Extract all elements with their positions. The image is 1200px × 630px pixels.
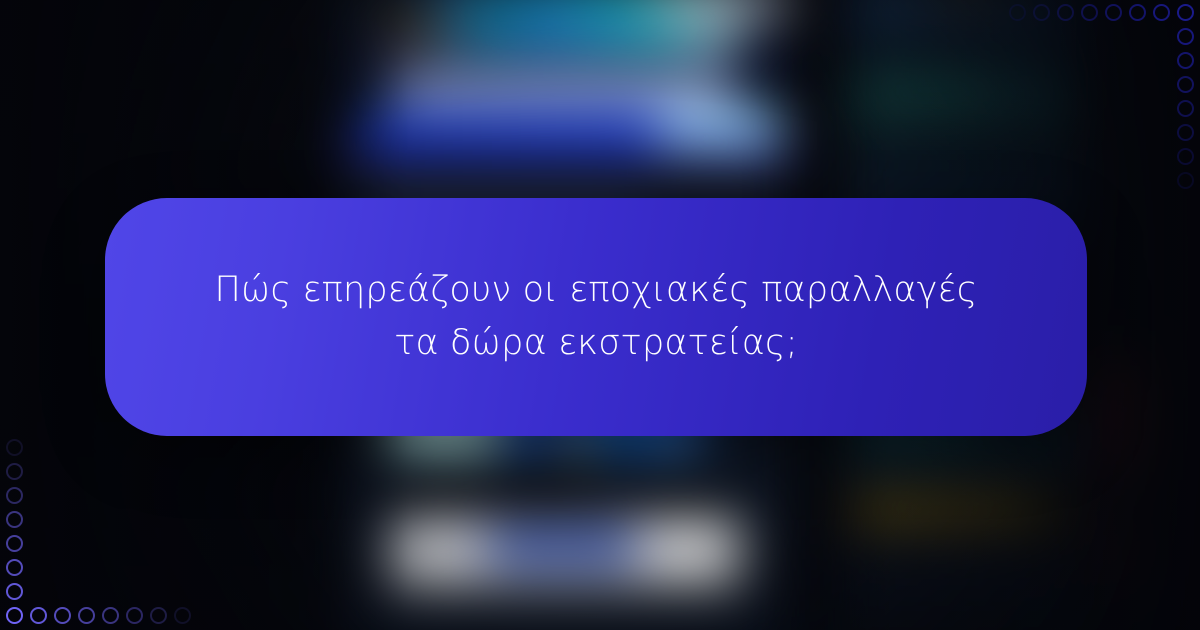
decor-dot xyxy=(174,607,191,624)
decor-dot xyxy=(6,535,23,552)
decor-dot xyxy=(1153,4,1170,21)
decor-dot xyxy=(1177,52,1194,69)
decor-dot xyxy=(150,607,167,624)
decor-dot xyxy=(1177,76,1194,93)
decor-dot xyxy=(6,511,23,528)
decor-dot xyxy=(1033,4,1050,21)
decor-dot xyxy=(1105,4,1122,21)
dot-grid-bottom-left xyxy=(6,424,206,624)
dot-grid-top-right xyxy=(994,4,1194,204)
decor-dot xyxy=(1081,4,1098,21)
decor-dot xyxy=(6,463,23,480)
quote-card: Πώς επηρεάζουν οι εποχιακές παραλλαγές τ… xyxy=(105,198,1087,436)
decor-dot xyxy=(1177,4,1194,21)
decor-dot xyxy=(1177,172,1194,189)
decor-dot xyxy=(1177,148,1194,165)
quote-text: Πώς επηρεάζουν οι εποχιακές παραλλαγές τ… xyxy=(191,264,1001,370)
decor-dot xyxy=(6,559,23,576)
decor-dot xyxy=(30,607,47,624)
decor-dot xyxy=(102,607,119,624)
decor-dot xyxy=(6,487,23,504)
decor-dot xyxy=(6,607,23,624)
decor-dot xyxy=(6,439,23,456)
decor-dot xyxy=(78,607,95,624)
decor-dot xyxy=(1009,4,1026,21)
decor-dot xyxy=(126,607,143,624)
decor-dot xyxy=(6,583,23,600)
decor-dot xyxy=(1177,124,1194,141)
decor-dot xyxy=(1177,100,1194,117)
decor-dot xyxy=(1057,4,1074,21)
decor-dot xyxy=(54,607,71,624)
decor-dot xyxy=(1177,28,1194,45)
decor-dot xyxy=(1129,4,1146,21)
